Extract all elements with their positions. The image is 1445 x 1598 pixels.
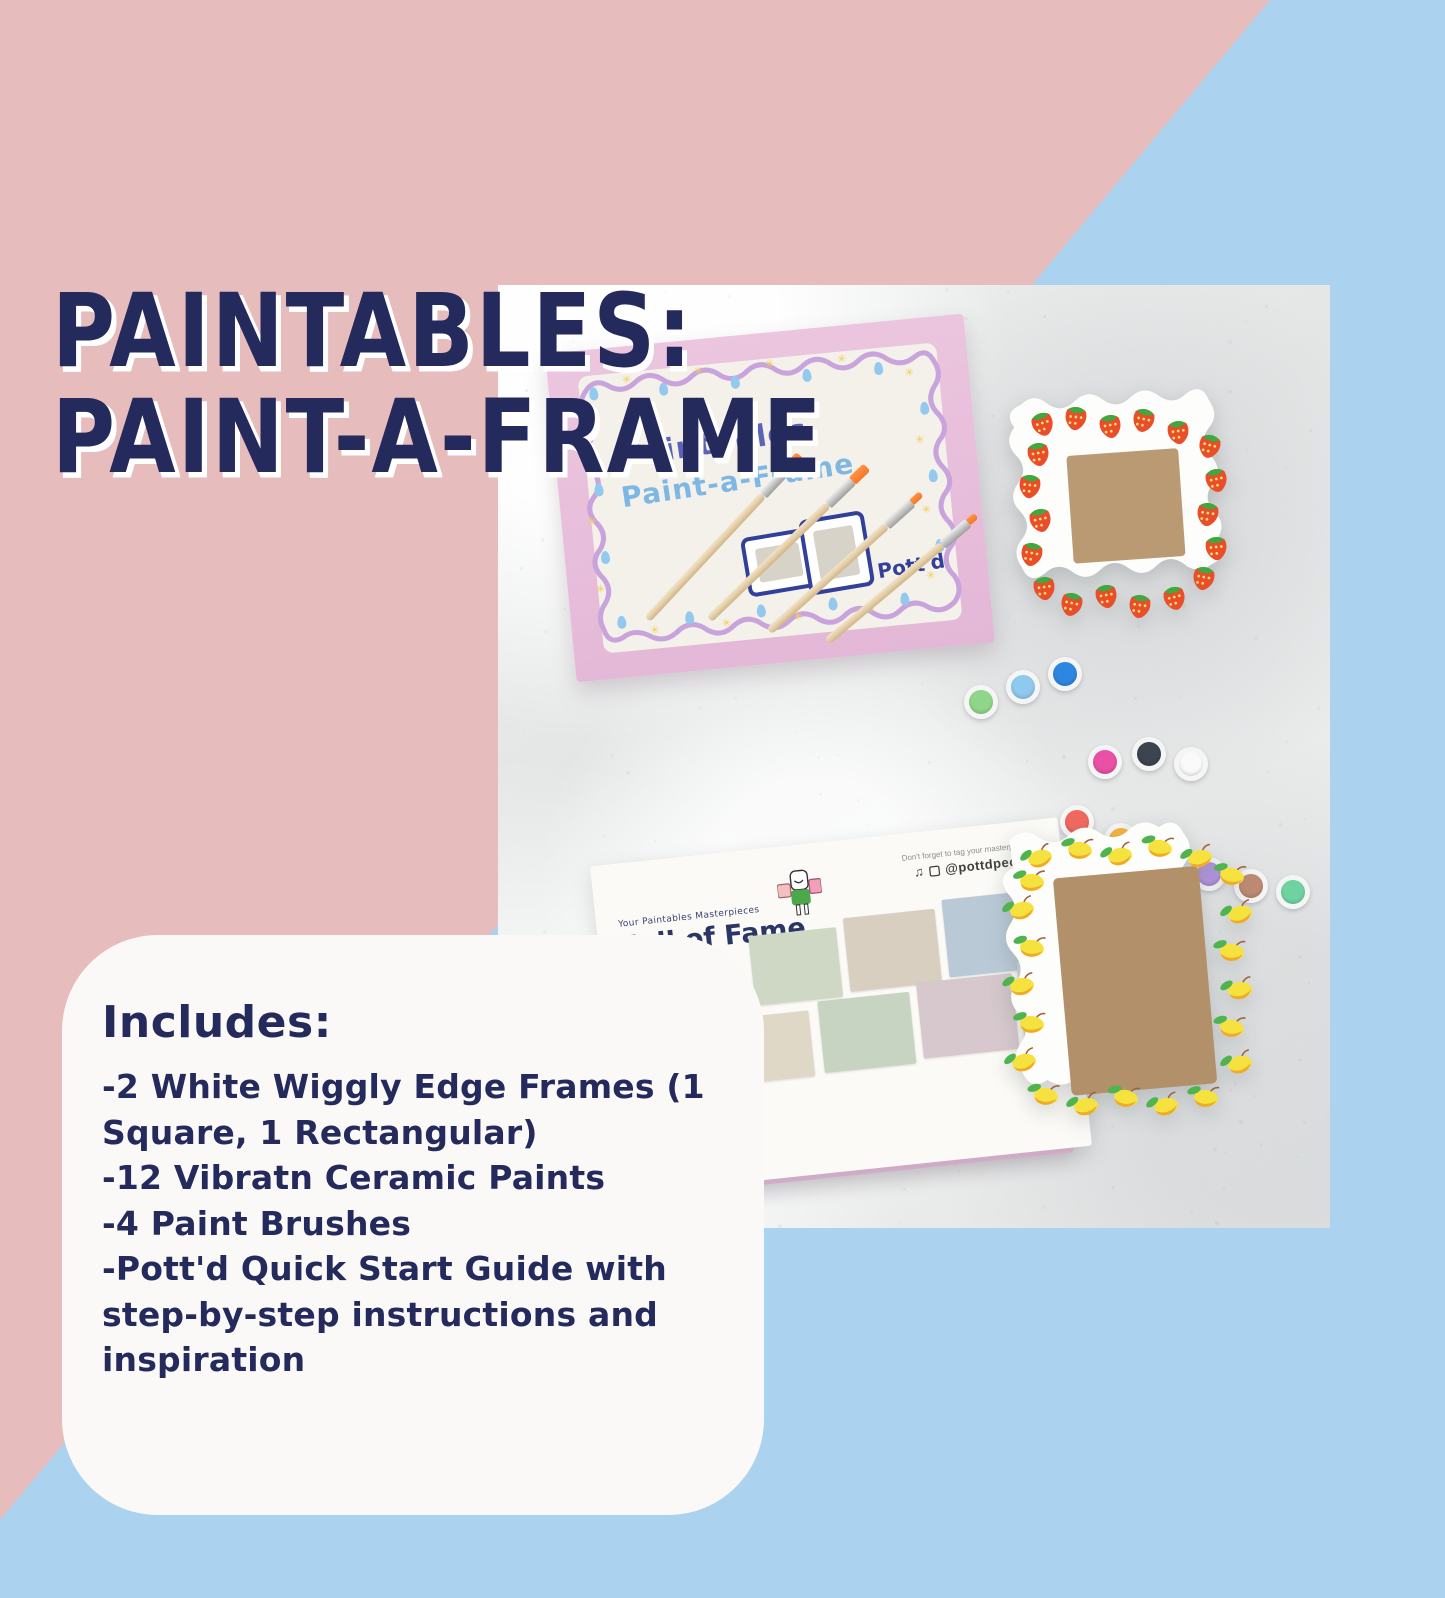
box-star-icon: ✳: [581, 450, 591, 460]
painted-strawberry-icon: [1128, 594, 1152, 620]
painted-lemon-icon: [1064, 1092, 1100, 1118]
painted-lemon-icon: [1143, 1092, 1179, 1119]
instagram-icon: ▢: [928, 862, 942, 878]
box-star-icon: ✳: [650, 626, 660, 636]
painted-lemon-icon: [1210, 859, 1247, 888]
painted-strawberry-icon: [1032, 576, 1056, 602]
sheet-gallery-thumbnail: [817, 992, 916, 1073]
painted-lemon-icon: [1210, 937, 1246, 963]
paint-pot-black: [1132, 737, 1166, 771]
paint-pot-color-swatch: [1179, 752, 1203, 776]
box-star-icon: ✳: [765, 360, 775, 370]
includes-list: -2 White Wiggly Edge Frames (1 Square, 1…: [102, 1064, 718, 1383]
paint-pot-green: [964, 685, 998, 719]
painted-strawberry-icon: [1094, 583, 1118, 609]
box-star-icon: ✳: [915, 436, 925, 446]
box-star-icon: ✳: [721, 619, 731, 629]
paint-pot-mint: [1276, 875, 1310, 909]
painted-lemon-icon: [1217, 899, 1254, 927]
paint-pot-color-swatch: [969, 690, 993, 714]
paint-pot-color-swatch: [1281, 880, 1305, 904]
paint-pot-white: [1174, 747, 1208, 781]
includes-list-item: -Pott'd Quick Start Guide with step-by-s…: [102, 1246, 718, 1383]
includes-list-item: -12 Vibratn Ceramic Paints: [102, 1155, 718, 1201]
painted-lemon-icon: [1217, 1049, 1254, 1077]
painted-lemon-icon: [1184, 1083, 1220, 1109]
sheet-gallery-thumbnail: [748, 927, 843, 1006]
box-star-icon: ✳: [587, 518, 597, 528]
paint-pot-pink: [1088, 745, 1122, 779]
box-star-icon: ✳: [693, 367, 703, 377]
includes-heading: Includes:: [102, 997, 718, 1048]
paint-pot-light-blue: [1006, 670, 1040, 704]
paint-pot-blue: [1048, 657, 1082, 691]
box-star-icon: ✳: [622, 376, 632, 386]
painted-lemon-icon: [1210, 1012, 1246, 1039]
box-star-icon: ✳: [922, 506, 932, 516]
painted-strawberry-icon: [1162, 585, 1188, 612]
box-star-icon: ✳: [596, 585, 606, 595]
painted-strawberry-icon: [1059, 591, 1084, 618]
paint-pot-color-swatch: [1137, 742, 1161, 766]
box-star-icon: ✳: [837, 355, 847, 365]
square-strawberry-frame: [998, 380, 1253, 635]
sheet-gallery-thumbnail: [843, 909, 942, 992]
mascot-character-icon: [775, 865, 824, 919]
paint-pot-color-swatch: [1011, 675, 1035, 699]
paint-pot-color-swatch: [1093, 750, 1117, 774]
includes-list-item: -4 Paint Brushes: [102, 1201, 718, 1247]
box-star-icon: ✳: [904, 369, 914, 379]
box-star-icon: ✳: [926, 572, 936, 582]
includes-list-item: -2 White Wiggly Edge Frames (1 Square, 1…: [102, 1064, 718, 1155]
product-poster: Paintables Paint-a-Frame Pott'd ✳✳✳✳✳✳✳✳…: [0, 0, 1445, 1598]
painted-lemon-icon: [1024, 1080, 1060, 1107]
tiktok-icon: ♫: [913, 864, 925, 880]
rectangular-lemon-frame: [988, 810, 1278, 1150]
painted-lemon-icon: [1218, 976, 1253, 1001]
includes-card: Includes: -2 White Wiggly Edge Frames (1…: [62, 935, 764, 1515]
paint-pot-color-swatch: [1053, 662, 1077, 686]
